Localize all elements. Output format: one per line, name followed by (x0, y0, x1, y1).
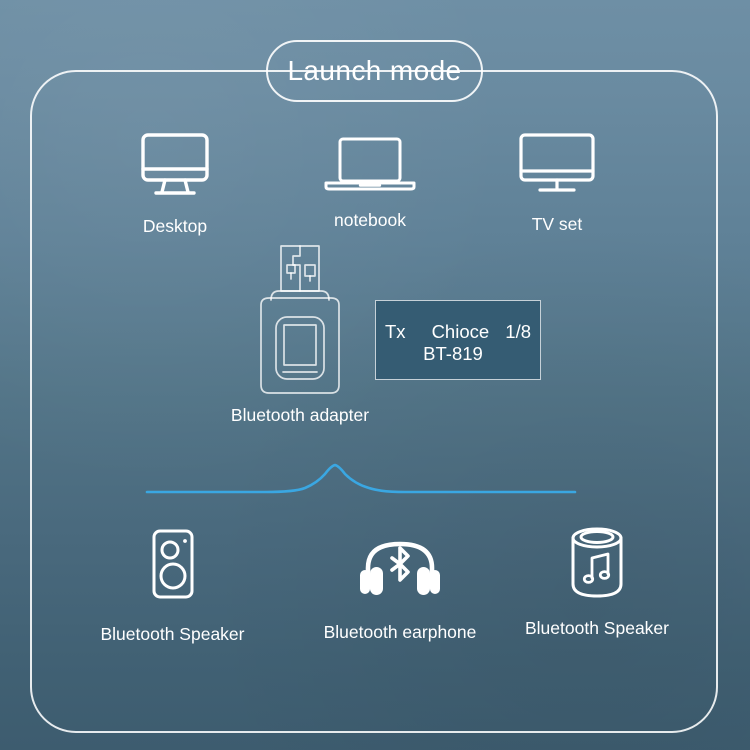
output-label-bt-speaker-cyl: Bluetooth Speaker (525, 618, 669, 639)
output-item-bt-speaker-cyl[interactable]: Bluetooth Speaker (518, 524, 676, 639)
status-display-panel: Tx Chioce 1/8 BT-819 (375, 300, 541, 380)
bluetooth-headphones-icon (354, 534, 446, 596)
source-item-desktop[interactable]: Desktop (105, 130, 245, 237)
output-item-bt-speaker-box[interactable]: Bluetooth Speaker (100, 528, 245, 645)
smart-speaker-cylinder-icon (566, 524, 628, 602)
tv-icon (516, 130, 598, 198)
display-model: BT-819 (376, 343, 540, 365)
output-label-bt-speaker-box: Bluetooth Speaker (101, 624, 245, 645)
output-item-bt-earphone[interactable]: Bluetooth earphone (325, 534, 475, 643)
signal-wave-divider (145, 462, 577, 504)
title-pill: Launch mode (266, 40, 483, 102)
adapter-block[interactable]: Bluetooth adapter (225, 243, 375, 426)
adapter-label: Bluetooth adapter (231, 405, 369, 426)
speaker-box-icon (142, 528, 204, 604)
source-item-notebook[interactable]: notebook (300, 134, 440, 231)
display-line-1: Tx Chioce 1/8 (376, 321, 540, 343)
source-label-notebook: notebook (334, 210, 406, 231)
display-mode: Tx (385, 321, 406, 343)
desktop-monitor-icon (138, 130, 212, 200)
page-title: Launch mode (287, 55, 461, 87)
output-label-bt-earphone: Bluetooth earphone (324, 622, 477, 643)
usb-dongle-icon (249, 243, 351, 395)
source-item-tvset[interactable]: TV set (492, 130, 622, 235)
display-page: 1/8 (505, 321, 531, 343)
laptop-icon (320, 134, 420, 196)
source-label-tvset: TV set (532, 214, 583, 235)
product-infographic: Launch mode Desktop notebook (0, 0, 750, 750)
display-choice: Chioce (432, 321, 490, 343)
source-label-desktop: Desktop (143, 216, 207, 237)
